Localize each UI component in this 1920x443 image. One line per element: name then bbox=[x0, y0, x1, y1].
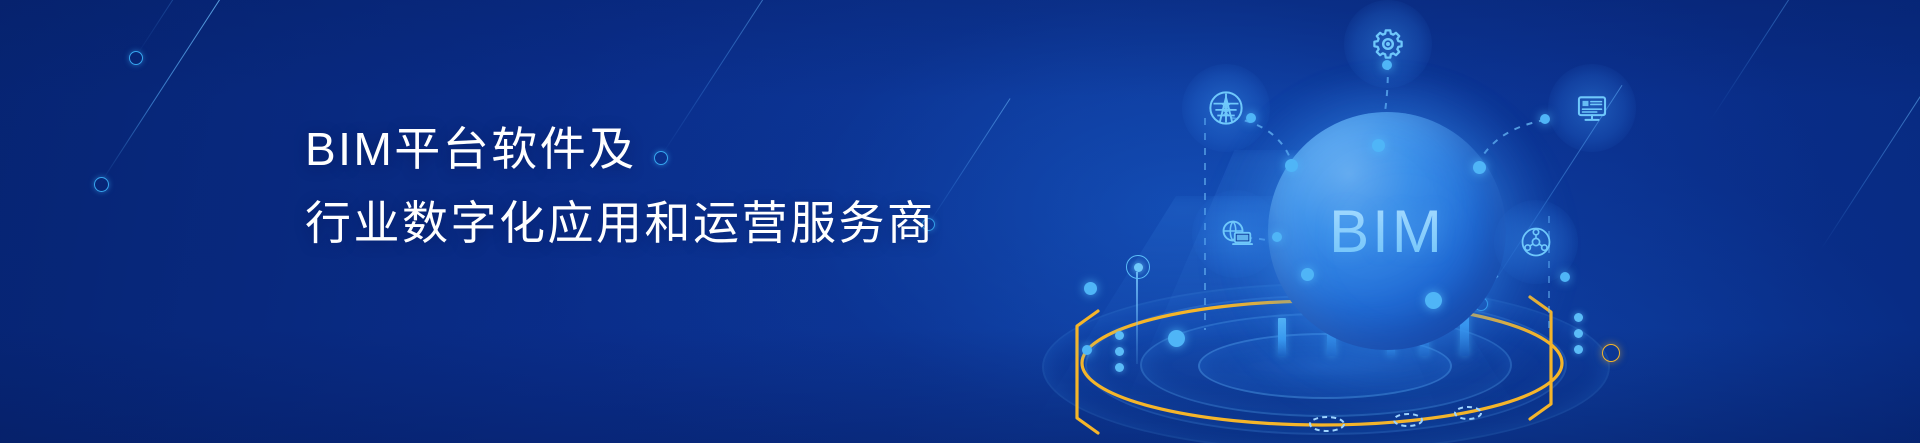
gear-badge[interactable] bbox=[1344, 0, 1432, 88]
bim-sphere-label: BIM bbox=[1268, 112, 1506, 350]
hero-banner: BIM平台软件及 行业数字化应用和运营服务商 BIM bbox=[0, 0, 1920, 443]
right-node-ring bbox=[1602, 344, 1620, 362]
right-stack-dot-2 bbox=[1574, 329, 1583, 338]
monitor-badge[interactable] bbox=[1548, 64, 1636, 152]
float-dot-radar bbox=[1168, 330, 1185, 347]
sphere-node-lower-right bbox=[1425, 292, 1442, 309]
right-stack-dot-1 bbox=[1574, 313, 1583, 322]
sphere-node-right bbox=[1473, 161, 1486, 174]
gear-badge-dot bbox=[1382, 60, 1392, 70]
right-stack-dot-3 bbox=[1574, 345, 1583, 354]
power-tower-icon bbox=[1206, 88, 1246, 128]
stack-dot-2 bbox=[1115, 347, 1124, 356]
globe-laptop-icon bbox=[1217, 215, 1255, 253]
sphere-node-lower-left bbox=[1301, 268, 1314, 281]
network-share-badge-dot bbox=[1560, 272, 1570, 282]
stack-dot-1 bbox=[1115, 331, 1124, 340]
gear-icon bbox=[1371, 27, 1405, 61]
stack-dot-3 bbox=[1115, 363, 1124, 372]
network-share-icon bbox=[1518, 224, 1554, 260]
connector-group bbox=[0, 0, 1920, 443]
pin-head bbox=[1126, 255, 1150, 279]
float-dot-far-left bbox=[1082, 345, 1092, 355]
monitor-icon bbox=[1573, 89, 1611, 127]
float-dot-left bbox=[1084, 282, 1097, 295]
sphere-node-left bbox=[1285, 159, 1298, 172]
pin-stem bbox=[1136, 272, 1138, 364]
globe-laptop-badge[interactable] bbox=[1192, 190, 1280, 278]
power-tower-badge[interactable] bbox=[1182, 64, 1270, 152]
power-tower-badge-dot bbox=[1246, 113, 1256, 123]
monitor-badge-dot bbox=[1540, 114, 1550, 124]
sphere-node-top bbox=[1372, 139, 1385, 152]
globe-laptop-badge-dot bbox=[1272, 232, 1282, 242]
